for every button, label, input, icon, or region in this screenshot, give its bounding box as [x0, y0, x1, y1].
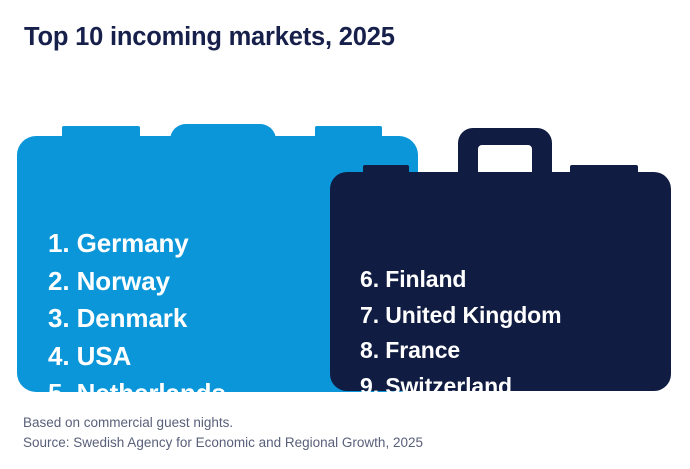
list-item: 6. Finland	[360, 262, 561, 298]
list-item: 4. USA	[48, 338, 226, 376]
page-title: Top 10 incoming markets, 2025	[24, 23, 395, 52]
list-item: 2. Norway	[48, 263, 226, 301]
navy-suitcase-list: 6. Finland 7. United Kingdom 8. France 9…	[360, 262, 561, 440]
list-item: 9. Switzerland	[360, 369, 561, 405]
list-item: 10. Italy	[360, 404, 561, 440]
list-item: 5. Netherlands	[48, 375, 226, 413]
navy-suitcase-handle	[458, 128, 552, 176]
list-item: 1. Germany	[48, 225, 226, 263]
infographic-root: Top 10 incoming markets, 2025 1. Ge	[0, 0, 690, 469]
list-item: 3. Denmark	[48, 300, 226, 338]
list-item: 8. France	[360, 333, 561, 369]
blue-suitcase-list: 1. Germany 2. Norway 3. Denmark 4. USA 5…	[48, 225, 226, 413]
list-item: 7. United Kingdom	[360, 298, 561, 334]
suitcase-stage: 1. Germany 2. Norway 3. Denmark 4. USA 5…	[0, 60, 690, 400]
